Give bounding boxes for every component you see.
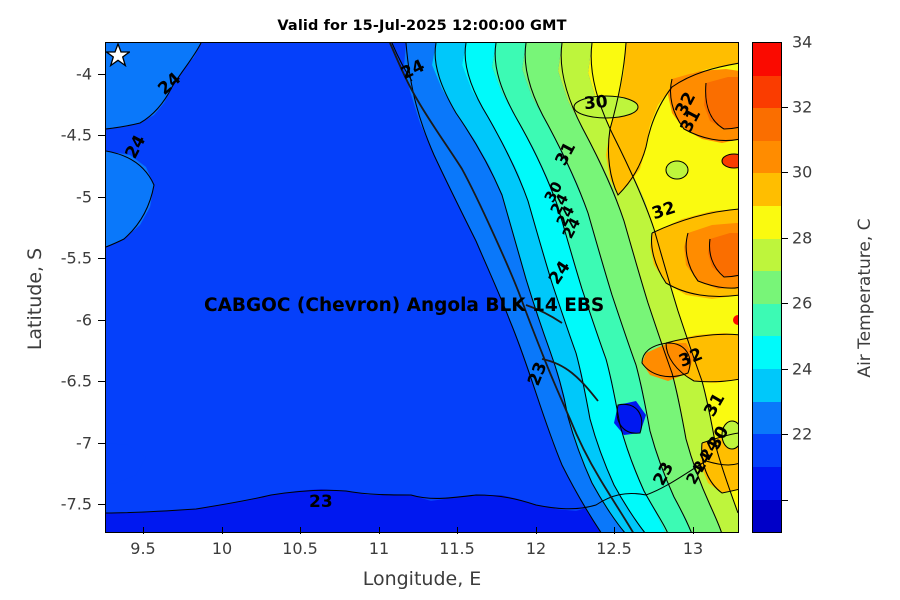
colorbar-tick (782, 500, 788, 501)
star-marker[interactable] (106, 43, 130, 67)
colorbar[interactable] (752, 42, 782, 533)
colorbar-band (753, 402, 781, 435)
x-tick-label: 12.5 (596, 539, 632, 558)
x-tick (300, 527, 301, 534)
colorbar-band (753, 141, 781, 174)
y-tick-label: -4 (50, 65, 92, 84)
colorbar-tick (782, 434, 788, 435)
x-axis-title: Longitude, E (105, 568, 739, 590)
colorbar-band (753, 271, 781, 304)
colorbar-band (753, 108, 781, 141)
x-tick-label: 10.5 (282, 539, 318, 558)
figure-root: Valid for 15-Jul-2025 12:00:00 GMT (0, 0, 900, 600)
colorbar-tick-label: 34 (792, 33, 812, 52)
contour-label: 23 (309, 492, 333, 512)
colorbar-band (753, 304, 781, 337)
colorbar-band (753, 76, 781, 109)
y-tick-label: -7.5 (42, 495, 92, 514)
colorbar-title: Air Temperature, C (855, 178, 875, 418)
colorbar-tick (782, 303, 788, 304)
colorbar-tick-label: 28 (792, 229, 812, 248)
y-tick-label: -5.5 (42, 249, 92, 268)
y-tick (98, 320, 105, 321)
contour-plot-area[interactable]: 24 24 24 30 32 31 31 32 24 32 31 30 23 2… (105, 42, 739, 533)
colorbar-band (753, 173, 781, 206)
contour-field (106, 43, 739, 533)
y-tick-label: -6 (50, 311, 92, 330)
x-tick-label: 12 (526, 539, 546, 558)
x-tick (143, 527, 144, 534)
y-tick-label: -6.5 (42, 372, 92, 391)
y-tick (98, 258, 105, 259)
x-tick-label: 11.5 (439, 539, 475, 558)
colorbar-band (753, 43, 781, 76)
colorbar-tick (782, 238, 788, 239)
colorbar-band (753, 467, 781, 500)
x-tick-label: 13 (683, 539, 703, 558)
y-axis-title: Latitude, S (24, 179, 46, 419)
x-tick (536, 527, 537, 534)
x-tick (379, 527, 380, 534)
y-tick-label: -7 (50, 434, 92, 453)
y-tick (98, 381, 105, 382)
contour-label: 30 (583, 92, 609, 114)
filled-contours (106, 43, 739, 533)
colorbar-band (753, 434, 781, 467)
colorbar-band (753, 206, 781, 239)
x-tick (457, 527, 458, 534)
y-tick (98, 504, 105, 505)
x-tick (693, 527, 694, 534)
colorbar-band (753, 239, 781, 272)
colorbar-band (753, 500, 781, 533)
x-tick-label: 9.5 (130, 539, 155, 558)
y-tick (98, 443, 105, 444)
colorbar-tick (782, 369, 788, 370)
chart-title: Valid for 15-Jul-2025 12:00:00 GMT (105, 18, 739, 34)
y-tick (98, 135, 105, 136)
colorbar-tick (782, 172, 788, 173)
x-tick (222, 527, 223, 534)
site-label: CABGOC (Chevron) Angola BLK 14 EBS (204, 295, 604, 316)
colorbar-band (753, 336, 781, 369)
colorbar-tick-label: 22 (792, 425, 812, 444)
y-tick (98, 74, 105, 75)
colorbar-tick-label: 30 (792, 163, 812, 182)
colorbar-tick-label: 26 (792, 294, 812, 313)
y-tick (98, 197, 105, 198)
y-tick-label: -5 (50, 188, 92, 207)
colorbar-tick-label: 32 (792, 98, 812, 117)
colorbar-band (753, 369, 781, 402)
colorbar-tick (782, 107, 788, 108)
x-tick-label: 10 (212, 539, 232, 558)
colorbar-tick-label: 24 (792, 360, 812, 379)
y-tick-label: -4.5 (42, 126, 92, 145)
x-tick-label: 11 (369, 539, 389, 558)
x-tick (614, 527, 615, 534)
